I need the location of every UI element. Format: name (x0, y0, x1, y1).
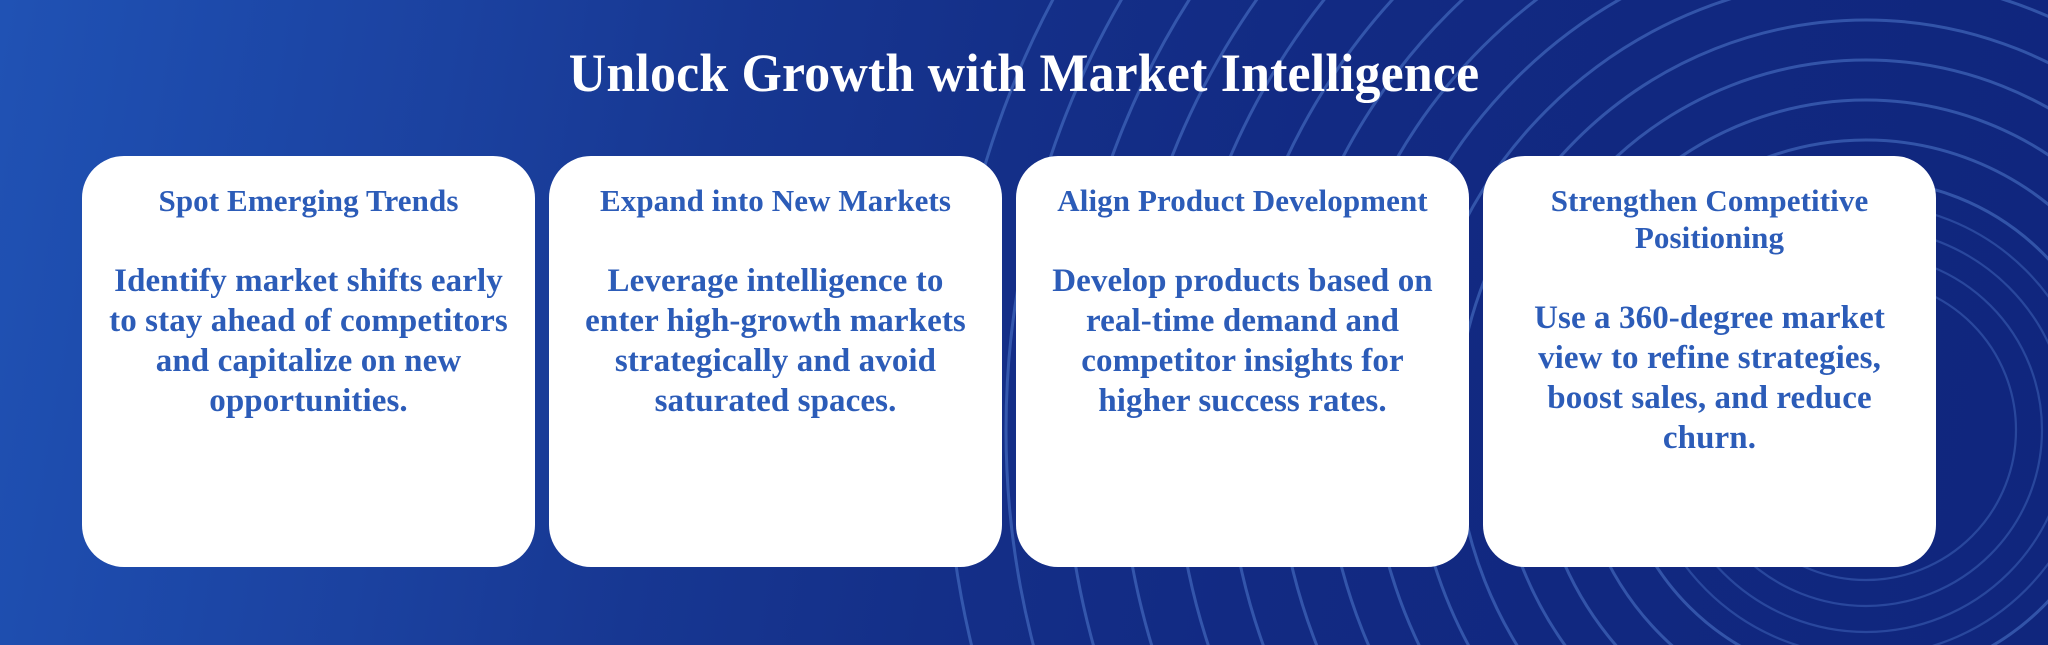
card-heading: Spot Emerging Trends (159, 182, 459, 219)
card-body: Identify market shifts early to stay ahe… (100, 261, 517, 421)
card-body: Leverage intelligence to enter high-grow… (567, 261, 984, 421)
marketing-banner: Unlock Growth with Market Intelligence S… (0, 0, 2048, 645)
feature-card-expand-into-new-markets[interactable]: Expand into New Markets Leverage intelli… (549, 156, 1002, 567)
card-heading: Expand into New Markets (600, 182, 951, 219)
feature-card-align-product-development[interactable]: Align Product Development Develop produc… (1016, 156, 1469, 567)
card-heading: Align Product Development (1057, 182, 1427, 219)
feature-card-spot-emerging-trends[interactable]: Spot Emerging Trends Identify market shi… (82, 156, 535, 567)
feature-card-strengthen-competitive-positioning[interactable]: Strengthen Competitive Positioning Use a… (1483, 156, 1936, 567)
card-body: Develop products based on real-time dema… (1034, 261, 1451, 421)
page-title: Unlock Growth with Market Intelligence (41, 42, 2007, 104)
feature-card-list: Spot Emerging Trends Identify market shi… (82, 156, 1936, 567)
card-body: Use a 360-degree market view to refine s… (1501, 298, 1918, 458)
card-heading: Strengthen Competitive Positioning (1501, 182, 1918, 256)
